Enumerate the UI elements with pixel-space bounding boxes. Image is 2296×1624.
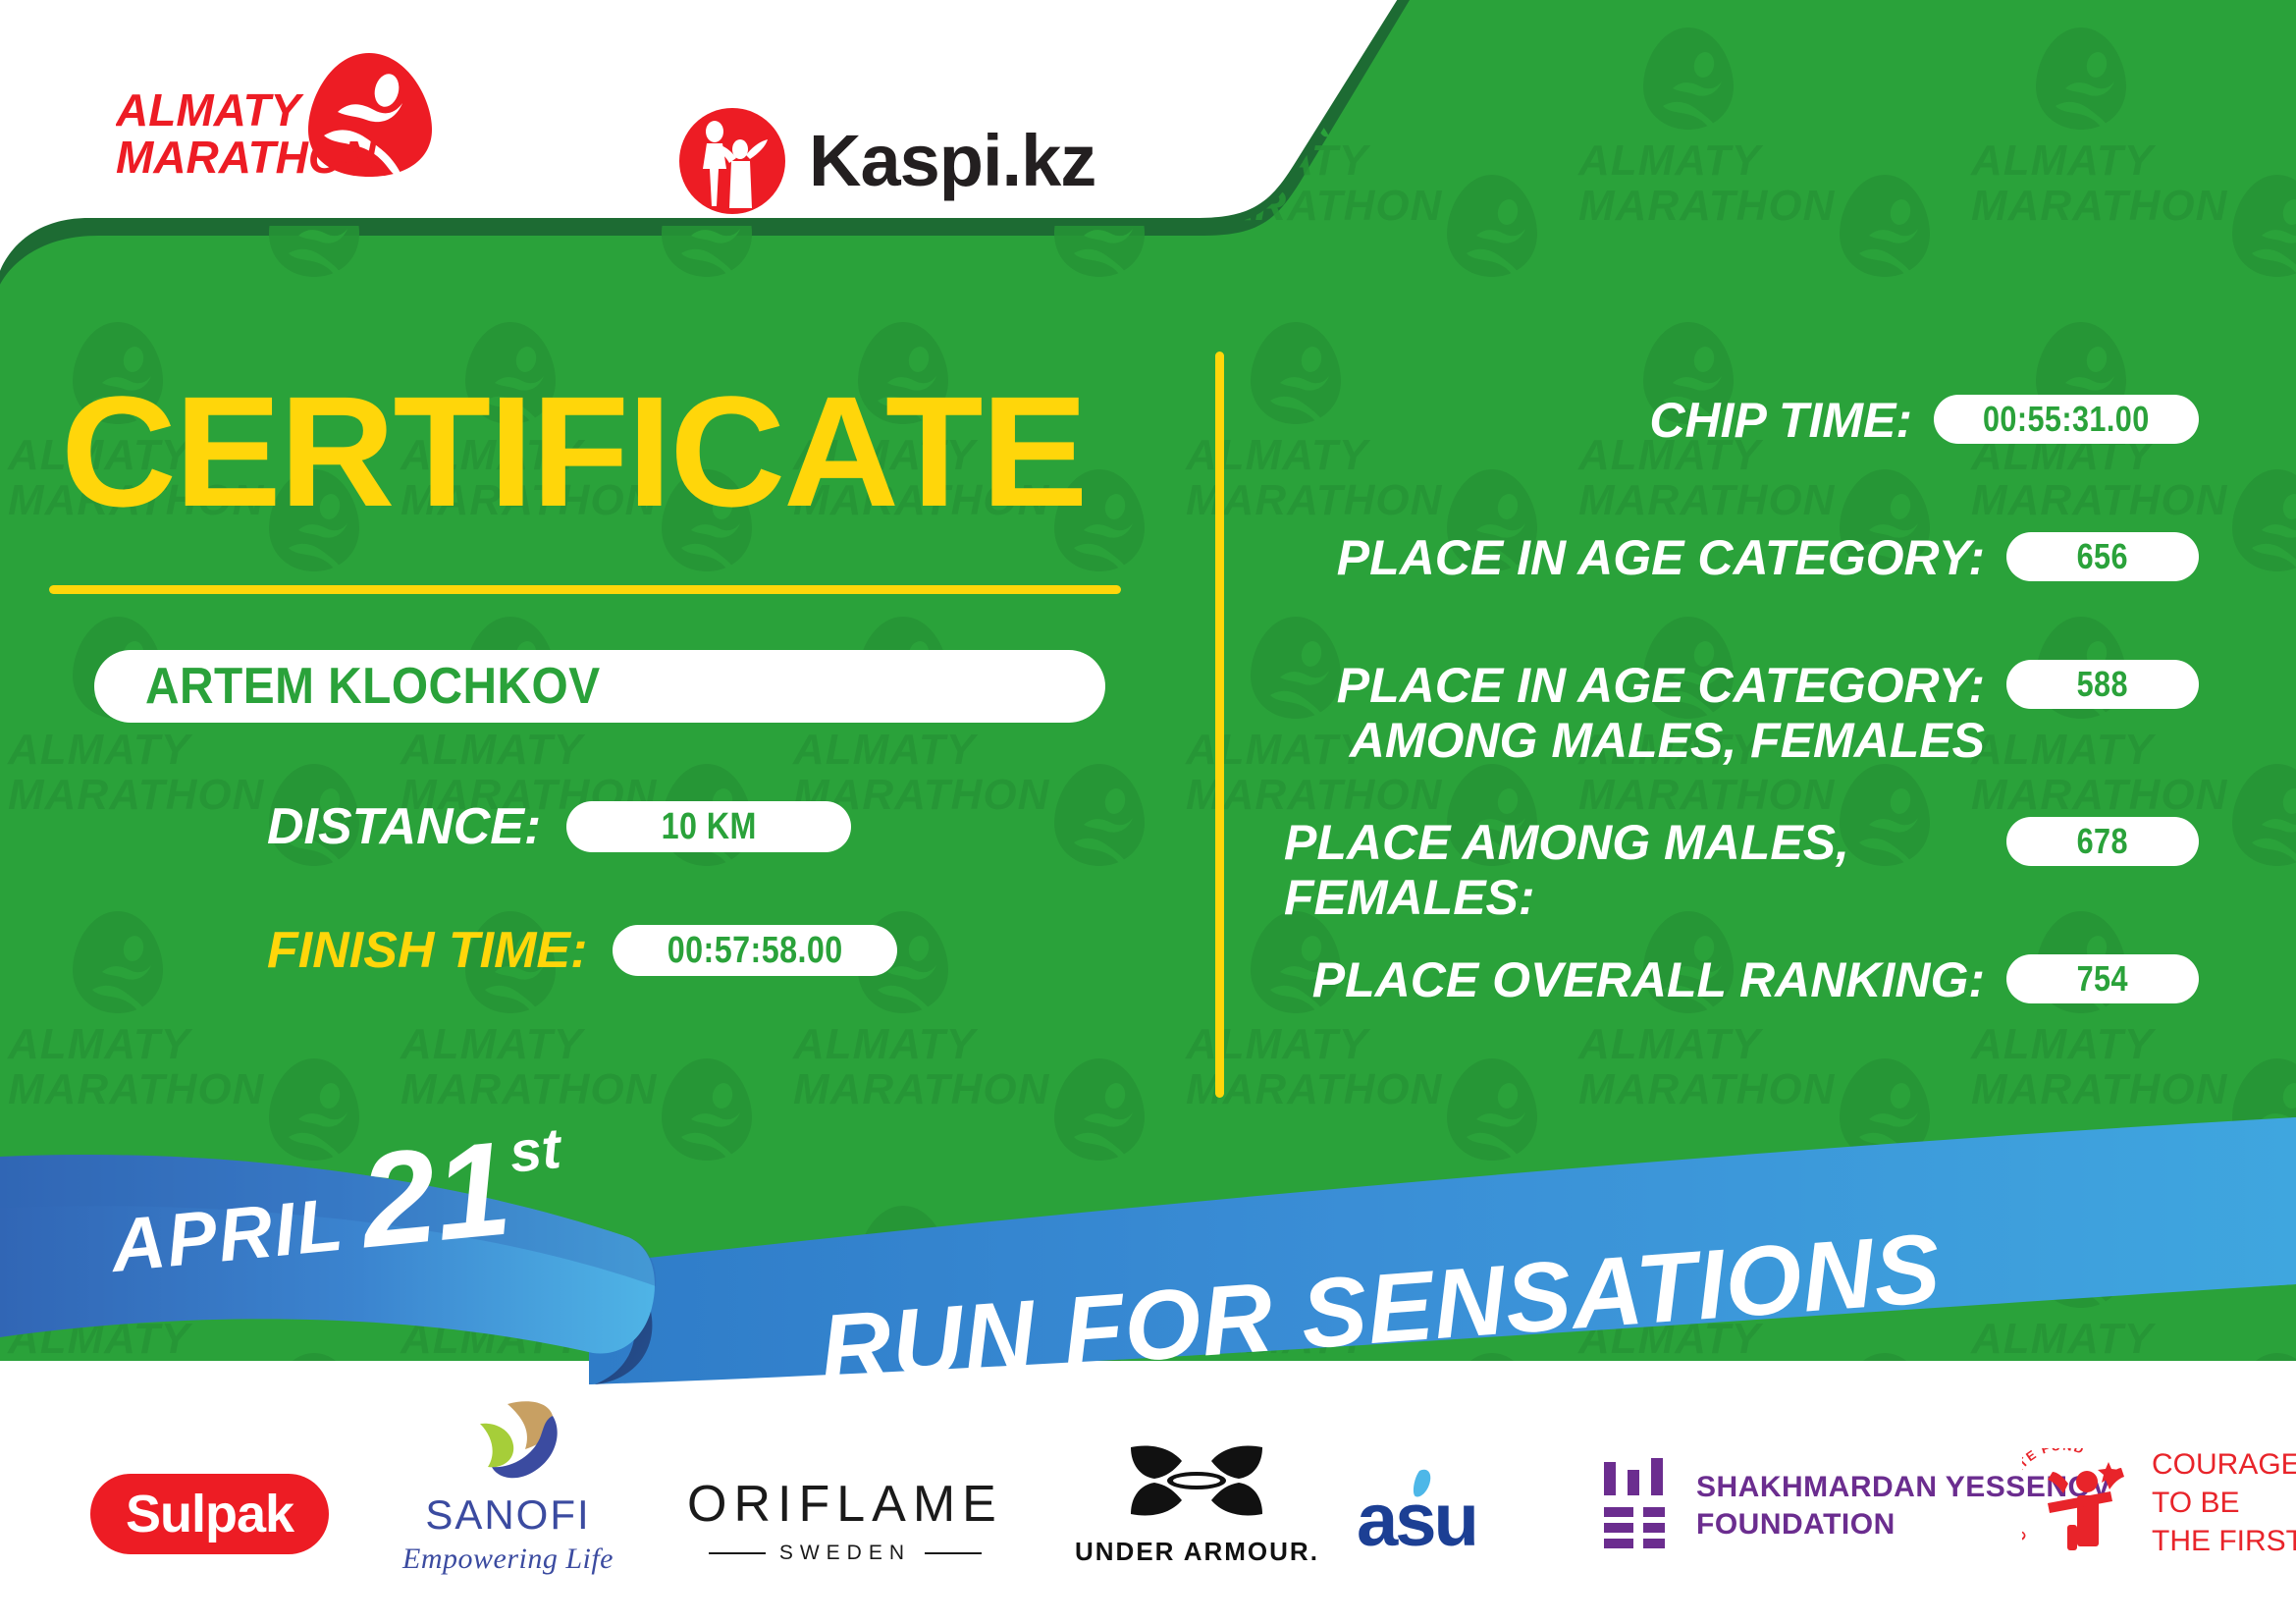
stat-row-chip-time: CHIP TIME: 00:55:31.00 [1276, 393, 2199, 448]
almaty-wordmark-line2: MARATHON [116, 132, 377, 179]
distance-value: 10 KM [662, 806, 757, 848]
oriflame-label: ORIFLAME [687, 1475, 1003, 1534]
sanofi-mark-icon [451, 1398, 566, 1483]
sulpak-label: Sulpak [126, 1485, 294, 1543]
sponsor-bar: Sulpak SANOFI Empowering Life ORIFLAME S… [0, 1406, 2296, 1624]
distance-label: DISTANCE: [267, 797, 541, 856]
chip-time-value: 00:55:31.00 [1983, 399, 2150, 440]
almaty-marathon-logo: ALMATY MARATHON [116, 51, 440, 179]
courage-mark-icon: CORPORATE FUND [2022, 1448, 2136, 1556]
stat-row-place-among-gender: PLACE AMONG MALES, FEMALES: 678 [1276, 815, 2199, 925]
sanofi-label: SANOFI [402, 1491, 614, 1539]
event-day: 21 [355, 1120, 516, 1268]
oriflame-sub-label: SWEDEN [779, 1542, 911, 1565]
column-divider [1215, 352, 1224, 1098]
oriflame-rule-left [709, 1552, 766, 1554]
sponsor-courage-to-be-first: CORPORATE FUND COURAGE TO BE [2022, 1434, 2296, 1571]
place-age-category-gender-value: 588 [2077, 664, 2128, 705]
sulpak-logo: Sulpak [90, 1474, 329, 1554]
place-age-category-value-pill: 656 [2006, 532, 2199, 581]
kaspi-mark-icon [677, 106, 787, 216]
courage-label-line2: TO BE [2152, 1484, 2296, 1522]
sponsor-asu: asu [1355, 1443, 1541, 1581]
sponsor-sanofi: SANOFI Empowering Life [402, 1418, 614, 1555]
place-among-gender-value: 678 [2077, 821, 2128, 862]
yessenov-mark-icon [1600, 1458, 1671, 1554]
chip-time-label: CHIP TIME: [1276, 393, 1934, 448]
place-overall-value-pill: 754 [2006, 954, 2199, 1003]
place-overall-label: PLACE OVERALL RANKING: [1276, 952, 2006, 1007]
asu-logo: asu [1355, 1463, 1541, 1561]
sanofi-tagline: Empowering Life [402, 1543, 614, 1576]
almaty-wordmark-line1: ALMATY [116, 84, 305, 135]
athlete-name-field: ARTEM KLOCHKOV [94, 650, 1105, 723]
place-overall-value: 754 [2077, 958, 2128, 1000]
finish-time-value-pill: 00:57:58.00 [613, 925, 897, 976]
asu-label: asu [1357, 1479, 1476, 1561]
distance-value-pill: 10 KM [566, 801, 851, 852]
kaspi-logo: Kaspi.kz [677, 106, 1095, 216]
place-age-category-gender-value-pill: 588 [2006, 660, 2199, 709]
title-underline [49, 585, 1121, 594]
finish-time-value: 00:57:58.00 [667, 930, 843, 972]
place-age-category-value: 656 [2077, 536, 2128, 577]
sponsor-under-armour: UNDER ARMOUR. [1075, 1435, 1319, 1573]
courage-label-line3: THE FIRST! [2152, 1522, 2296, 1560]
place-among-gender-label: PLACE AMONG MALES, FEMALES: [1276, 815, 2006, 925]
under-armour-label: UNDER ARMOUR. [1075, 1537, 1319, 1567]
place-among-gender-value-pill: 678 [2006, 817, 2199, 866]
stat-row-distance: DISTANCE: 10 KM [267, 797, 851, 856]
sponsor-oriflame: ORIFLAME SWEDEN [687, 1451, 1003, 1589]
place-age-category-label: PLACE IN AGE CATEGORY: [1276, 530, 2006, 585]
certificate-header: ALMATY MARATHON Kaspi.kz [0, 0, 1276, 265]
stat-row-place-overall: PLACE OVERALL RANKING: 754 [1276, 952, 2199, 1007]
event-month: APRIL [107, 1182, 347, 1289]
event-day-suffix: st [507, 1115, 563, 1186]
certificate-page: ALMATY MARATHON [0, 0, 2296, 1624]
courage-label-line1: COURAGE [2152, 1445, 2296, 1484]
stat-row-place-age-category: PLACE IN AGE CATEGORY: 656 [1276, 530, 2199, 585]
kaspi-wordmark: Kaspi.kz [809, 125, 1095, 197]
finish-time-label: FINISH TIME: [267, 921, 587, 980]
oriflame-rule-right [925, 1552, 982, 1554]
stat-row-place-age-category-gender: PLACE IN AGE CATEGORY: AMONG MALES, FEMA… [1276, 658, 2199, 768]
under-armour-mark-icon [1123, 1441, 1270, 1526]
page-title: CERTIFICATE [61, 373, 1086, 530]
athlete-name-value: ARTEM KLOCHKOV [145, 657, 601, 716]
place-age-category-gender-label: PLACE IN AGE CATEGORY: AMONG MALES, FEMA… [1276, 658, 2006, 768]
sponsor-sulpak: Sulpak [90, 1445, 329, 1583]
chip-time-value-pill: 00:55:31.00 [1934, 395, 2199, 444]
stat-row-finish-time: FINISH TIME: 00:57:58.00 [267, 921, 897, 980]
